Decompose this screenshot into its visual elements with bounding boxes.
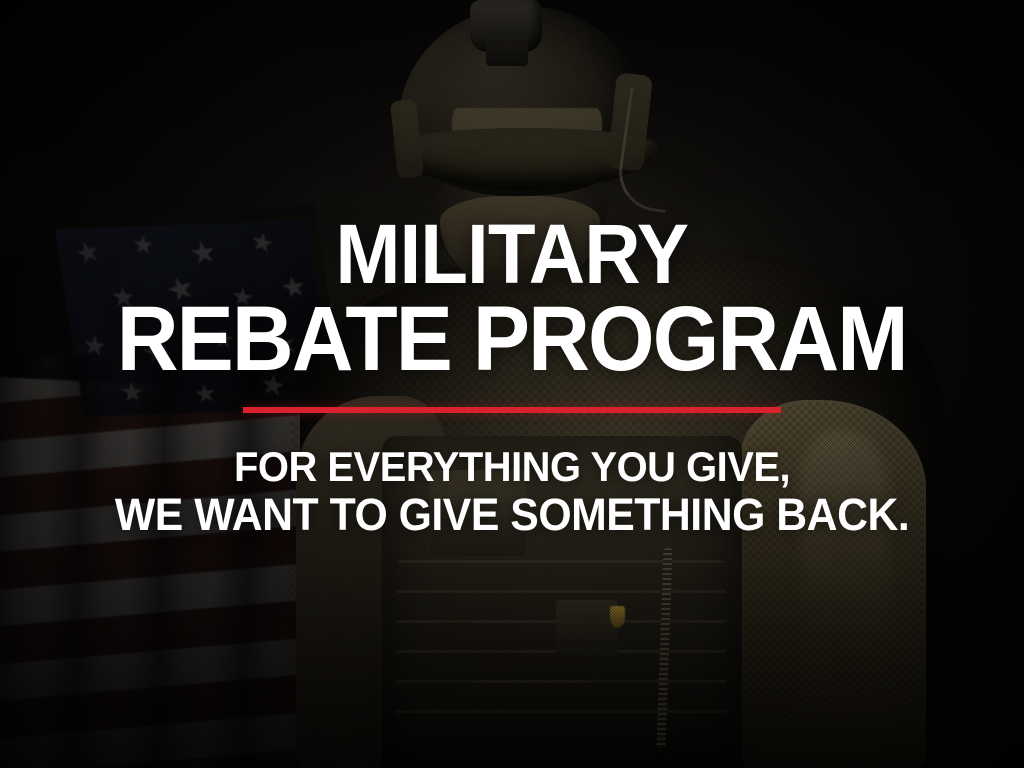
- poster-content: MILITARY REBATE PROGRAM FOR EVERYTHING Y…: [0, 0, 1024, 768]
- poster-subhead: FOR EVERYTHING YOU GIVE, WE WANT TO GIVE…: [115, 443, 909, 540]
- military-rebate-poster: MILITARY REBATE PROGRAM FOR EVERYTHING Y…: [0, 0, 1024, 768]
- subhead-line-2: WE WANT TO GIVE SOMETHING BACK.: [115, 490, 909, 540]
- subhead-line-1: FOR EVERYTHING YOU GIVE,: [115, 443, 909, 490]
- headline-line-1: MILITARY: [117, 214, 907, 295]
- red-divider-rule: [243, 407, 781, 413]
- headline-line-2: REBATE PROGRAM: [117, 295, 907, 383]
- poster-headline: MILITARY REBATE PROGRAM: [117, 214, 907, 383]
